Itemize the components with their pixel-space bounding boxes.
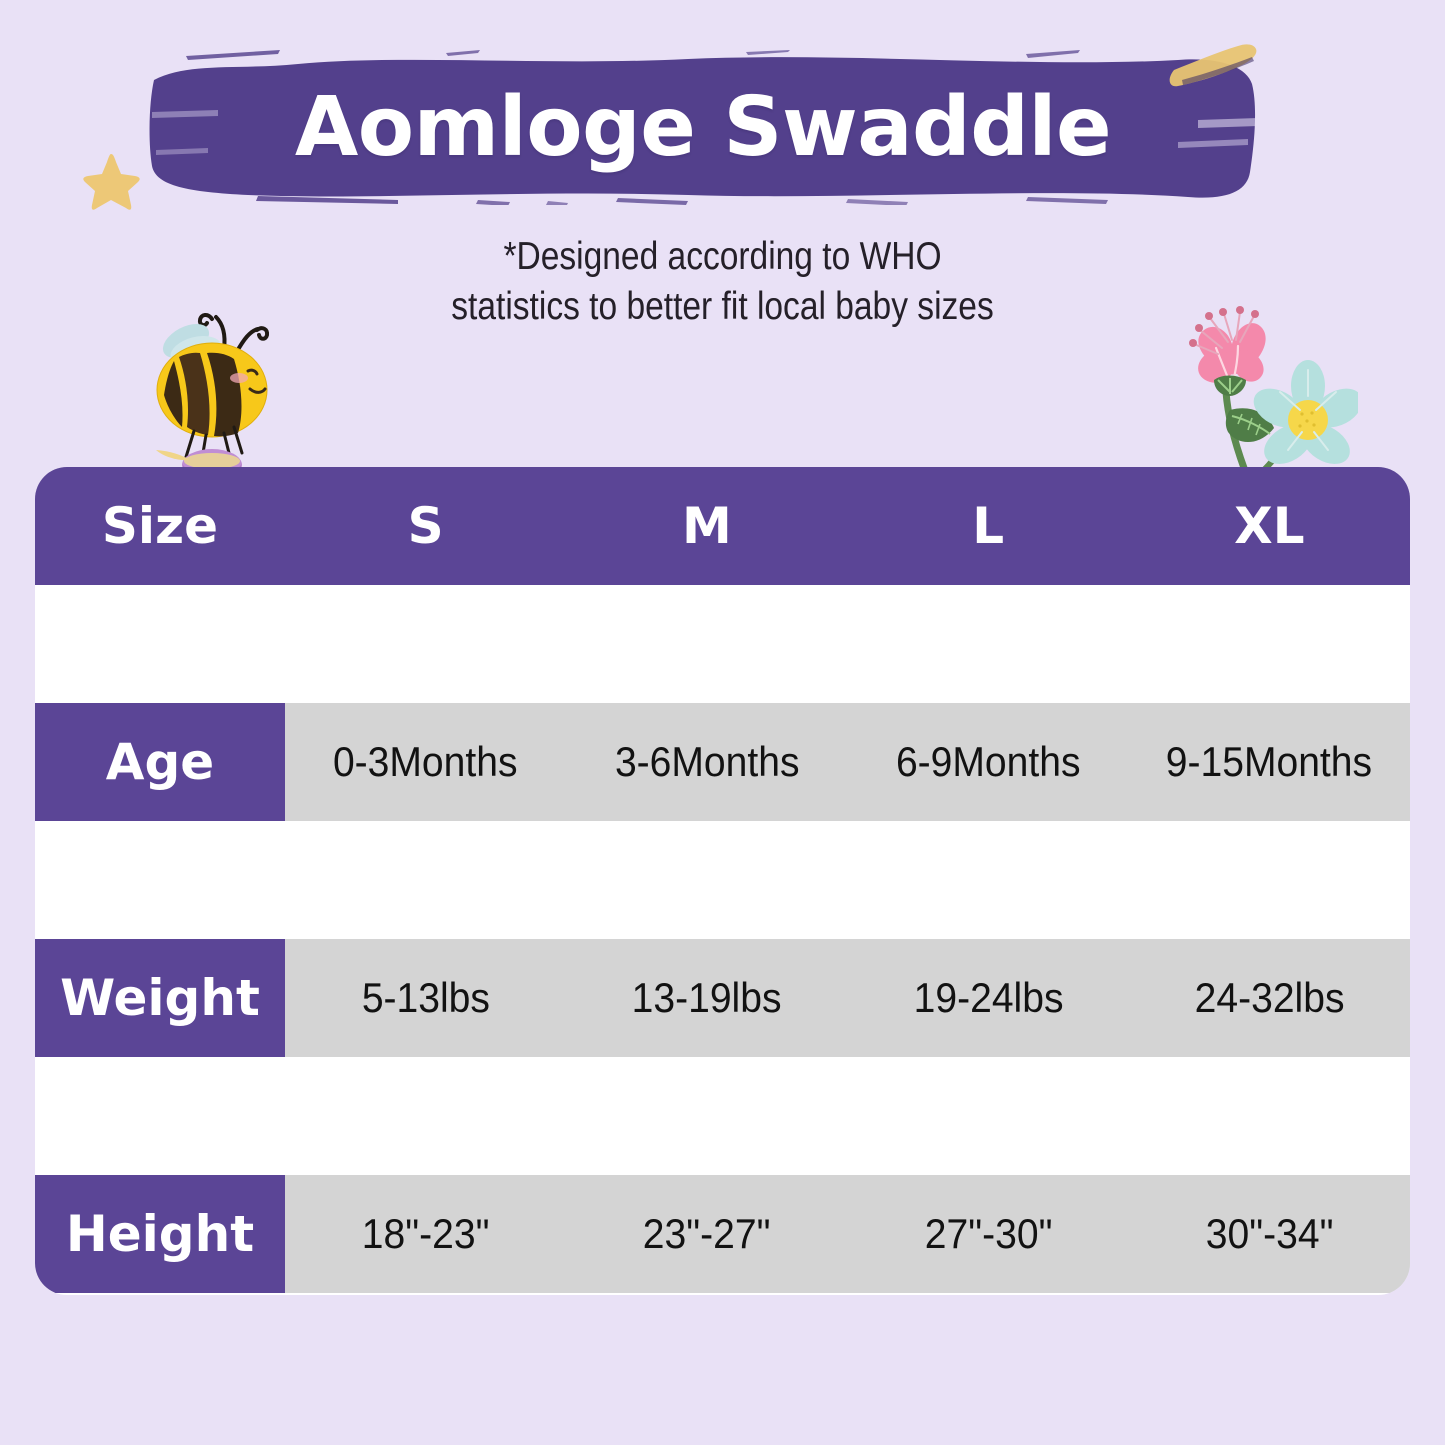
cell-weight-xl: 24-32lbs — [1129, 939, 1410, 1057]
subtitle-line-1: *Designed according to WHO — [101, 232, 1344, 282]
header-size-xl: XL — [1129, 467, 1410, 585]
cell-height-xl: 30"-34" — [1129, 1175, 1410, 1293]
header-size-cells: S M L XL — [285, 467, 1410, 585]
page-title: Aomloge Swaddle — [148, 50, 1258, 205]
size-chart-page: Aomloge Swaddle — [0, 0, 1445, 1445]
star-icon — [80, 150, 142, 212]
header-size-m: M — [566, 467, 847, 585]
title-banner: Aomloge Swaddle — [148, 50, 1258, 205]
cell-weight-l: 19-24lbs — [848, 939, 1129, 1057]
table-spacer-row-1 — [35, 585, 1410, 703]
table-row-weight: Weight 5-13lbs 13-19lbs 19-24lbs 24-32lb… — [35, 939, 1410, 1057]
row-values-age: 0-3Months 3-6Months 6-9Months 9-15Months — [285, 703, 1410, 821]
cell-age-m: 3-6Months — [566, 703, 847, 821]
row-values-weight: 5-13lbs 13-19lbs 19-24lbs 24-32lbs — [285, 939, 1410, 1057]
header-size-s: S — [285, 467, 566, 585]
row-values-height: 18"-23" 23"-27" 27"-30" 30"-34" — [285, 1175, 1410, 1293]
cell-height-m: 23"-27" — [566, 1175, 847, 1293]
size-chart-table: Size S M L XL Age 0-3Months 3-6Months 6-… — [35, 467, 1410, 1295]
subtitle-line-2: statistics to better fit local baby size… — [101, 282, 1344, 332]
cell-age-xl: 9-15Months — [1129, 703, 1410, 821]
subtitle: *Designed according to WHO statistics to… — [0, 232, 1445, 332]
row-label-height: Height — [35, 1175, 285, 1293]
table-row-height: Height 18"-23" 23"-27" 27"-30" 30"-34" — [35, 1175, 1410, 1293]
table-spacer-row-2 — [35, 821, 1410, 939]
table-row-age: Age 0-3Months 3-6Months 6-9Months 9-15Mo… — [35, 703, 1410, 821]
header-size-l: L — [848, 467, 1129, 585]
table-header-row: Size S M L XL — [35, 467, 1410, 585]
table-spacer-row-3 — [35, 1057, 1410, 1175]
header-label-size: Size — [35, 467, 285, 585]
cell-weight-s: 5-13lbs — [285, 939, 566, 1057]
cell-weight-m: 13-19lbs — [566, 939, 847, 1057]
row-label-age: Age — [35, 703, 285, 821]
cell-height-l: 27"-30" — [848, 1175, 1129, 1293]
cell-age-l: 6-9Months — [848, 703, 1129, 821]
cell-height-s: 18"-23" — [285, 1175, 566, 1293]
row-label-weight: Weight — [35, 939, 285, 1057]
cell-age-s: 0-3Months — [285, 703, 566, 821]
